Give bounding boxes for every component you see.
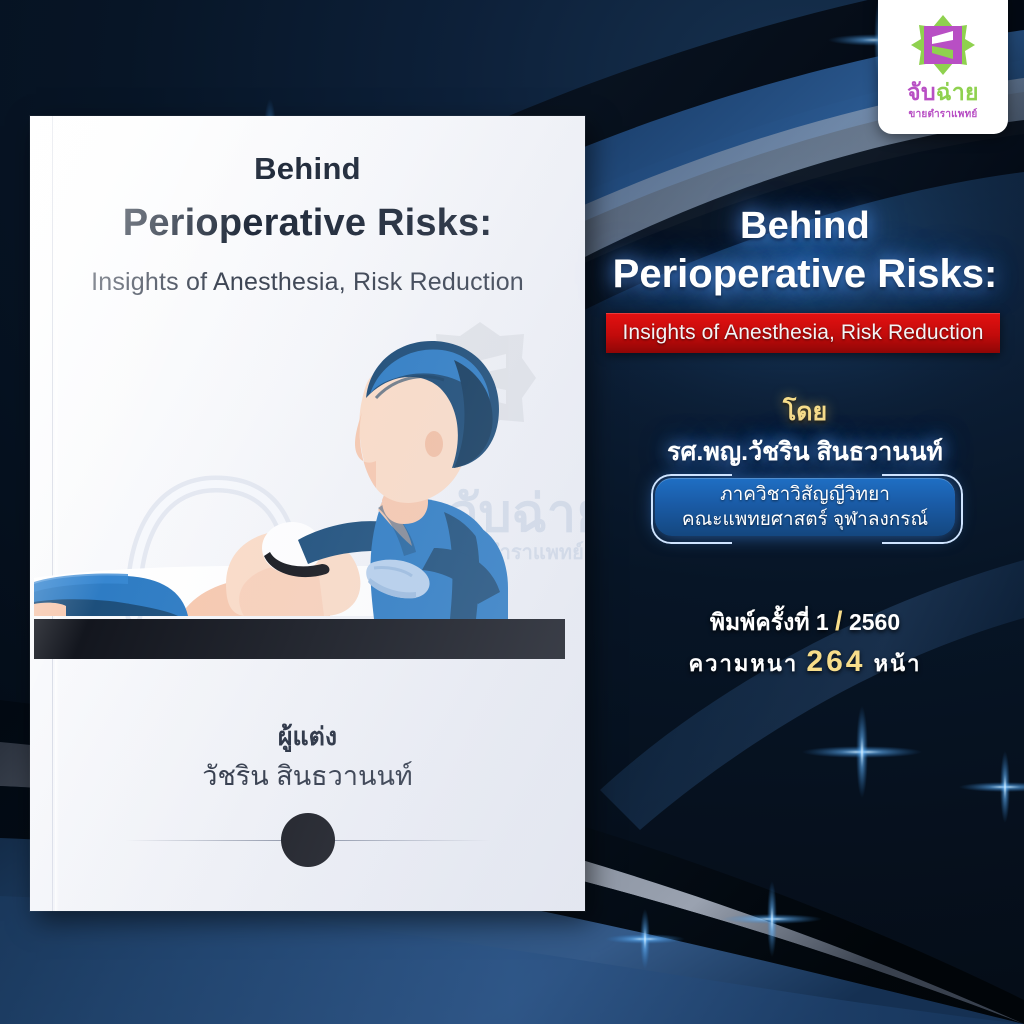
panel-affiliation-pill-frame [651,474,963,544]
brand-word-part2: ฉ่าย [936,79,979,105]
panel-page-count: ความหนา 264 หน้า [595,645,1015,681]
panel-by-label: โดย [595,392,1015,432]
pages-prefix: ความหนา [688,651,798,676]
panel-title-line1: Behind [595,205,1015,248]
brand-logo-mark-icon [911,13,975,77]
book-title-line2: Perioperative Risks: [30,202,585,245]
panel-print-edition: พิมพ์ครั้งที่ 1 / 2560 [595,605,1015,641]
book-author-name: วัชริน สินธวานนท์ [30,754,585,797]
book-cover: Behind Perioperative Risks: Insights of … [30,116,585,911]
book-title-line1: Behind [30,151,585,187]
book-subtitle: Insights of Anesthesia, Risk Reduction [30,268,585,297]
brand-logo-tagline: ขายตำราแพทย์ [909,107,978,122]
brand-word-part1: จับ [907,79,936,105]
print-year: 2560 [849,609,900,635]
panel-author-name: รศ.พญ.วัชริน สินธวานนท์ [595,432,1015,472]
book-dot-ornament [281,813,335,867]
print-separator: / [835,606,843,636]
panel-subtitle-banner: Insights of Anesthesia, Risk Reduction [606,313,1000,353]
brand-logo-badge[interactable]: จับฉ่าย ขายตำราแพทย์ [878,0,1008,134]
brand-logo-wordmark: จับฉ่าย [907,81,979,104]
panel-subtitle-text: Insights of Anesthesia, Risk Reduction [606,313,1000,353]
book-author-label: ผู้แต่ง [30,717,585,757]
anesthesia-illustration: จับฉ่าย ขายตำราแพทย์ [30,316,585,696]
pages-count: 264 [806,645,865,678]
pages-suffix: หน้า [874,651,922,676]
poster-canvas: Behind Perioperative Risks: Insights of … [0,0,1024,1024]
print-prefix: พิมพ์ครั้งที่ 1 [710,609,829,635]
panel-title-line2: Perioperative Risks: [588,252,1022,297]
